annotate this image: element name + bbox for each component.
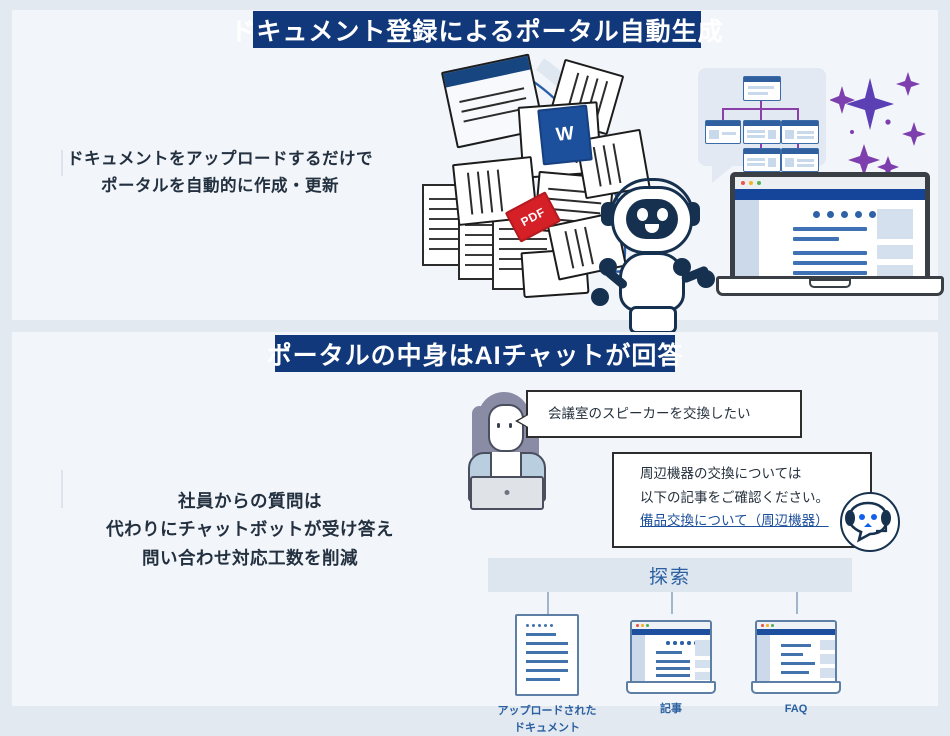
source-item-documents[interactable]: アップロードされた ドキュメント [488,614,606,736]
section-2-lead-text: 社員からの質問は 代わりにチャットボットが受け答え 問い合わせ対応工数を削減 [90,487,410,572]
section-2-lead-line-3: 問い合わせ対応工数を削減 [90,544,410,572]
source-item-articles[interactable]: 記事 [612,620,730,718]
section-2-accent-tick [61,470,63,508]
source-caption-line-1: アップロードされた [488,703,606,720]
word-file-badge: W [537,105,593,166]
source-item-faq[interactable]: FAQ [737,620,855,718]
sitemap-speech-bubble [698,68,826,166]
sitemap-node [743,120,781,144]
section-1-lead-line-2: ポータルを自動的に作成・更新 [60,173,380,200]
section-1-lead-line-1: ドキュメントをアップロードするだけで [60,146,380,173]
bot-article-link[interactable]: 備品交換について（周辺機器） [640,509,870,533]
section-1-illustration: W PDF [400,52,940,312]
source-caption-line-1: FAQ [737,701,855,718]
sitemap-node [743,76,781,101]
bot-message-bubble: 周辺機器の交換については 以下の記事をご確認ください。 備品交換について（周辺機… [612,452,872,548]
explore-band: 探索 [488,558,852,592]
sitemap-node [781,120,819,144]
laptop-icon [470,476,544,510]
robot-face-icon [626,199,678,239]
section-2-banner: ポータルの中身はAIチャットが回答 [275,335,675,372]
laptop-icon [751,620,841,694]
section-2-lead-line-2: 代わりにチャットボットが受け答え [90,515,410,543]
laptop-icon [626,620,716,694]
sparkle-icon [830,70,940,180]
explore-label: 探索 [649,562,691,589]
section-2-illustration: 会議室のスピーカーを交換したい 周辺機器の交換については 以下の記事をご確認くだ… [440,380,940,700]
sitemap-node [743,148,781,172]
connector-line [547,592,549,614]
face-icon [488,404,524,452]
document-icon [515,614,579,696]
bot-message-line-1: 周辺機器の交換については [640,462,870,486]
section-2-lead-line-1: 社員からの質問は [90,487,410,515]
sitemap-node [705,120,741,144]
robot-base-icon [629,306,677,334]
source-caption-line-2: ドキュメント [488,720,606,736]
robot-head-icon [611,186,693,254]
user-message-bubble: 会議室のスピーカーを交換したい [526,390,802,438]
section-1-lead-text: ドキュメントをアップロードするだけで ポータルを自動的に作成・更新 [60,146,380,199]
connector-line [796,592,798,614]
section-1-banner: ドキュメント登録によるポータル自動生成 [253,11,701,48]
bot-message-line-2: 以下の記事をご確認ください。 [640,486,870,510]
connector-line [671,592,673,614]
portal-laptop-illustration [730,172,930,300]
user-message-text: 会議室のスピーカーを交換したい [548,402,751,426]
source-caption-line-1: 記事 [612,701,730,718]
sitemap-node [781,148,819,172]
chatbot-avatar-icon [840,492,900,552]
robot-illustration [585,170,720,320]
